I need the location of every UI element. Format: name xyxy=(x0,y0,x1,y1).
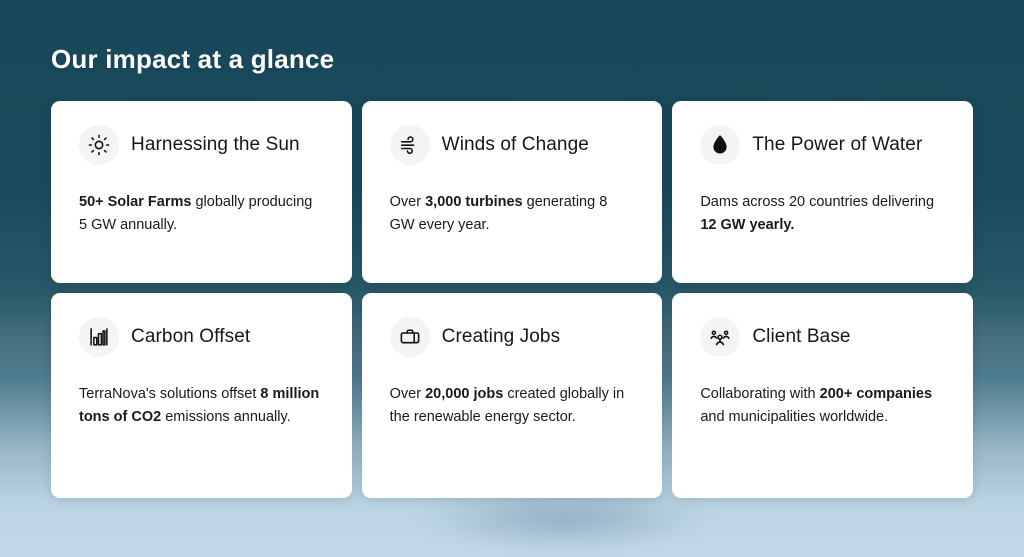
impact-card-body-text: Over xyxy=(390,386,425,402)
impact-card-body: Over 3,000 turbines generating 8 GW ever… xyxy=(390,191,635,238)
impact-card-title: The Power of Water xyxy=(752,135,922,156)
impact-card-body-text: Dams across 20 countries delivering xyxy=(700,194,934,210)
page-title: Our impact at a glance xyxy=(51,44,973,75)
bar-chart-icon xyxy=(79,317,119,357)
impact-card: Winds of ChangeOver 3,000 turbines gener… xyxy=(362,101,663,283)
impact-card-body-emphasis: 3,000 turbines xyxy=(425,194,523,210)
sun-icon xyxy=(79,125,119,165)
impact-card-body: TerraNova's solutions offset 8 million t… xyxy=(79,383,324,430)
water-drop-icon xyxy=(700,125,740,165)
impact-card-title: Carbon Offset xyxy=(131,327,250,348)
impact-card-body: Collaborating with 200+ companies and mu… xyxy=(700,383,945,430)
impact-card-header: Harnessing the Sun xyxy=(79,125,324,165)
impact-card-body-text: and municipalities worldwide. xyxy=(700,409,888,425)
impact-card-body: Over 20,000 jobs created globally in the… xyxy=(390,383,635,430)
impact-card-header: Client Base xyxy=(700,317,945,357)
impact-card-body: Dams across 20 countries delivering 12 G… xyxy=(700,191,945,238)
impact-card: Creating JobsOver 20,000 jobs created gl… xyxy=(362,293,663,498)
impact-card: Carbon OffsetTerraNova's solutions offse… xyxy=(51,293,352,498)
impact-card-title: Winds of Change xyxy=(442,135,589,156)
impact-card: Client BaseCollaborating with 200+ compa… xyxy=(672,293,973,498)
people-group-icon xyxy=(700,317,740,357)
briefcase-icon xyxy=(390,317,430,357)
impact-cards-grid: Harnessing the Sun50+ Solar Farms global… xyxy=(51,101,973,498)
wind-icon xyxy=(390,125,430,165)
impact-card: Harnessing the Sun50+ Solar Farms global… xyxy=(51,101,352,283)
impact-card-body-emphasis: 200+ companies xyxy=(820,386,932,402)
impact-card-body-text: Collaborating with xyxy=(700,386,819,402)
impact-card-title: Harnessing the Sun xyxy=(131,135,300,156)
impact-section: Our impact at a glance Harnessing the Su… xyxy=(0,0,1024,557)
impact-card-body-emphasis: 20,000 jobs xyxy=(425,386,503,402)
impact-card-body-text: TerraNova's solutions offset xyxy=(79,386,260,402)
impact-card-title: Client Base xyxy=(752,327,850,348)
impact-card-body: 50+ Solar Farms globally producing 5 GW … xyxy=(79,191,324,238)
impact-card-body-emphasis: 50+ Solar Farms xyxy=(79,194,191,210)
impact-card: The Power of WaterDams across 20 countri… xyxy=(672,101,973,283)
impact-card-body-text: emissions annually. xyxy=(161,409,291,425)
impact-card-header: Creating Jobs xyxy=(390,317,635,357)
impact-card-header: Carbon Offset xyxy=(79,317,324,357)
impact-card-title: Creating Jobs xyxy=(442,327,561,348)
impact-card-header: The Power of Water xyxy=(700,125,945,165)
impact-card-body-text: Over xyxy=(390,194,425,210)
impact-card-body-emphasis: 12 GW yearly. xyxy=(700,217,794,233)
impact-card-header: Winds of Change xyxy=(390,125,635,165)
